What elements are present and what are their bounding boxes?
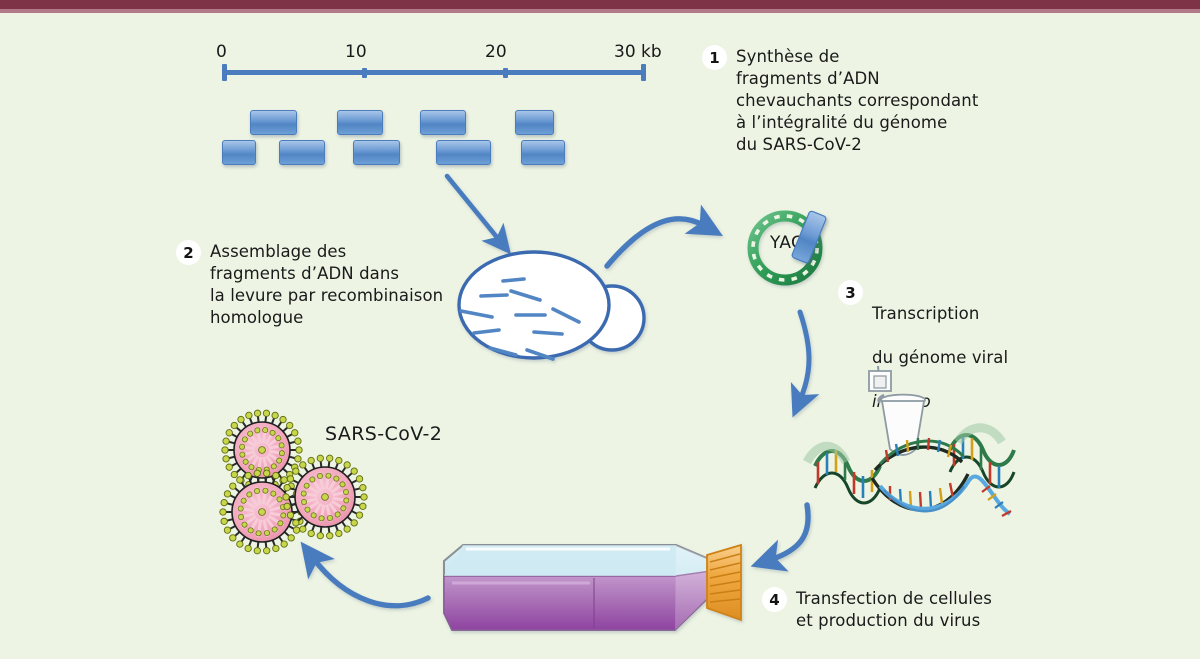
spike-knob	[273, 472, 279, 478]
virion-inner-knob	[326, 473, 331, 478]
spike-knob	[226, 430, 232, 436]
virion-inner-knob	[344, 498, 349, 503]
virion-inner-knob	[278, 521, 283, 526]
spike-knob	[327, 455, 333, 461]
spike-knob	[351, 520, 357, 526]
virion-core	[322, 494, 329, 501]
spike-knob	[231, 471, 237, 477]
diagram-artwork	[0, 0, 1200, 659]
virion-inner-knob	[255, 428, 260, 433]
spike-knob	[351, 468, 357, 474]
spike-knob	[296, 447, 302, 453]
virion-inner-knob	[271, 464, 276, 469]
spike-knob	[287, 512, 293, 518]
arrow-transcription-to-flask	[770, 505, 808, 560]
virion-inner-knob	[334, 476, 339, 481]
yac-construct	[753, 210, 827, 280]
virion-inner-knob	[301, 499, 306, 504]
virion-inner-knob	[311, 513, 316, 518]
spike-knob	[287, 476, 293, 482]
virion-inner-knob	[238, 506, 243, 511]
virion-inner-knob	[243, 459, 248, 464]
spike-knob	[224, 527, 230, 533]
spike-knob	[292, 430, 298, 436]
arrow-yeast-to-yac	[607, 219, 705, 266]
culture-flask	[444, 545, 741, 630]
virion-inner-knob	[263, 427, 268, 432]
virion-inner-knob	[263, 488, 268, 493]
spike-knob	[230, 535, 236, 541]
virion-inner-knob	[248, 431, 253, 436]
spike-knob	[263, 410, 269, 416]
spike-knob	[226, 464, 232, 470]
virion-inner-knob	[249, 465, 254, 470]
virion-inner-knob	[281, 513, 286, 518]
spike-knob	[295, 456, 301, 462]
virion-inner-knob	[305, 507, 310, 512]
virion-inner-knob	[270, 430, 275, 435]
spike-knob	[284, 503, 290, 509]
virion-inner-knob	[242, 522, 247, 527]
virion-core	[259, 509, 266, 516]
arrow-group	[313, 176, 809, 606]
spike-knob	[273, 545, 279, 551]
virion-inner-knob	[304, 483, 309, 488]
spike-knob	[281, 477, 287, 483]
tube-lid-inner	[874, 376, 886, 388]
spike-knob	[327, 533, 333, 539]
spike-knob	[280, 416, 286, 422]
virion-3	[283, 455, 367, 539]
virion-inner-knob	[341, 506, 346, 511]
virion-inner-knob	[277, 458, 282, 463]
virion-inner-knob	[248, 528, 253, 533]
spike-knob	[237, 541, 243, 547]
spike-knob	[317, 533, 323, 539]
spike-knob	[245, 545, 251, 551]
arrow-yac-to-transcription	[800, 312, 809, 400]
flask-cap	[707, 545, 741, 620]
yeast-cell	[459, 252, 644, 359]
spike-knob	[254, 470, 260, 476]
virion-inner-knob	[241, 498, 246, 503]
virion-inner-knob	[242, 437, 247, 442]
flask-neck-highlight	[675, 545, 710, 630]
spike-knob	[238, 416, 244, 422]
spike-knob	[221, 499, 227, 505]
spike-knob	[344, 462, 350, 468]
spike-knob	[264, 470, 270, 476]
virion-inner-knob	[247, 492, 252, 497]
virion-inner-knob	[272, 527, 277, 532]
virion-inner-knob	[279, 443, 284, 448]
virion-inner-knob	[319, 516, 324, 521]
flask-medium	[444, 571, 710, 630]
spike-knob	[308, 457, 314, 463]
virion-inner-knob	[301, 491, 306, 496]
spike-knob	[223, 456, 229, 462]
spike-knob	[237, 477, 243, 483]
spike-knob	[293, 527, 299, 533]
spike-knob	[308, 530, 314, 536]
virion-inner-knob	[238, 514, 243, 519]
virion-inner-knob	[340, 482, 345, 487]
virion-inner-knob	[310, 477, 315, 482]
spike-knob	[246, 412, 252, 418]
virion-inner-knob	[256, 531, 261, 536]
spike-knob	[293, 468, 299, 474]
spike-knob	[284, 484, 290, 490]
spike-knob	[360, 484, 366, 490]
spike-knob	[230, 483, 236, 489]
spike-knob	[264, 548, 270, 554]
virion-inner-knob	[327, 515, 332, 520]
spike-knob	[222, 447, 228, 453]
yeast-body	[459, 252, 609, 358]
spike-knob	[283, 494, 289, 500]
spike-knob	[336, 457, 342, 463]
dna-helix-left	[807, 446, 880, 503]
spike-knob	[224, 491, 230, 497]
spike-knob	[231, 422, 237, 428]
virion-core	[259, 447, 266, 454]
spike-knob	[300, 462, 306, 468]
spike-knob	[221, 518, 227, 524]
spike-knob	[344, 526, 350, 532]
arrow-fragments-to-yeast	[447, 176, 500, 241]
spike-knob	[300, 526, 306, 532]
virion-inner-knob	[254, 488, 259, 493]
spike-knob	[293, 520, 299, 526]
virion-group	[220, 410, 367, 554]
spike-knob	[220, 509, 226, 515]
spike-knob	[272, 412, 278, 418]
spike-knob	[254, 410, 260, 416]
spike-knob	[295, 438, 301, 444]
spike-knob	[361, 494, 367, 500]
virion-inner-knob	[277, 497, 282, 502]
spike-knob	[286, 422, 292, 428]
virion-inner-knob	[276, 436, 281, 441]
spike-knob	[254, 548, 260, 554]
spike-knob	[356, 512, 362, 518]
arrow-flask-to-virions	[313, 558, 428, 606]
figure-canvas: 0 10 20 30 kb 1 Synthèse de fragments d’…	[0, 0, 1200, 659]
virion-inner-knob	[279, 451, 284, 456]
spike-knob	[360, 503, 366, 509]
spike-knob	[356, 476, 362, 482]
spike-knob	[336, 530, 342, 536]
spike-knob	[317, 455, 323, 461]
virion-inner-knob	[317, 473, 322, 478]
virion-inner-knob	[335, 512, 340, 517]
spike-knob	[223, 438, 229, 444]
spike-knob	[281, 541, 287, 547]
virion-inner-knob	[343, 489, 348, 494]
virion-inner-knob	[239, 444, 244, 449]
virion-inner-knob	[240, 452, 245, 457]
virion-inner-knob	[271, 491, 276, 496]
virion-inner-knob	[264, 530, 269, 535]
spike-knob	[245, 472, 251, 478]
spike-knob	[288, 535, 294, 541]
